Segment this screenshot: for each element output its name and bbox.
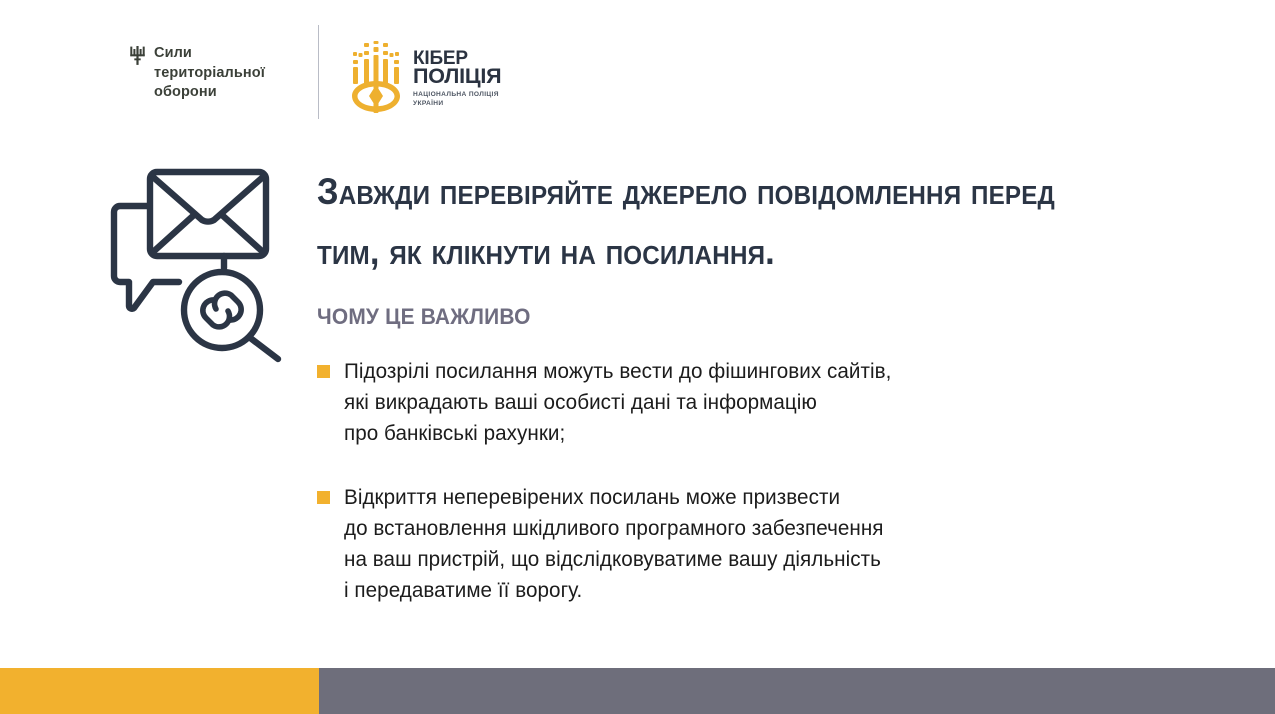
header-divider xyxy=(318,25,319,119)
logo-territorial-defence-forces: Сили територіальної оборони xyxy=(130,44,265,103)
headline-rest: авжди перевіряйте джерело повідомлення п… xyxy=(317,171,1055,272)
page-title: Завжди перевіряйте джерело повідомлення … xyxy=(317,162,1117,282)
envelope-chat-link-magnifier-icon xyxy=(98,158,294,366)
list-item-text: Підозрілі посилання можуть вести до фіши… xyxy=(344,356,891,449)
bullet-list: Підозрілі посилання можуть вести до фіши… xyxy=(317,356,1177,606)
headline-first-letter: З xyxy=(317,171,339,212)
tryzub-icon xyxy=(130,46,145,65)
cyber-police-subtitle: НАЦІОНАЛЬНА ПОЛІЦІЯ УКРАЇНИ xyxy=(413,91,501,108)
subheading: ЧОМУ ЦЕ ВАЖЛИВО xyxy=(317,304,1134,330)
footer-accent-yellow xyxy=(0,668,319,714)
list-item: Відкриття неперевірених посилань може пр… xyxy=(317,482,1177,606)
square-bullet-icon xyxy=(317,491,330,504)
square-bullet-icon xyxy=(317,365,330,378)
footer-bar xyxy=(0,668,1275,714)
header: Сили територіальної оборони xyxy=(0,0,1275,130)
logo-cyber-police: КІБЕР ПОЛІЦІЯ НАЦІОНАЛЬНА ПОЛІЦІЯ УКРАЇН… xyxy=(347,41,501,113)
list-item-text: Відкриття неперевірених посилань може пр… xyxy=(344,482,884,606)
slide-root: Сили територіальної оборони xyxy=(0,0,1275,714)
content-column: Завжди перевіряйте джерело повідомлення … xyxy=(317,162,1177,606)
logo-territorial-defence-label: Сили територіальної оборони xyxy=(154,44,265,103)
list-item: Підозрілі посилання можуть вести до фіши… xyxy=(317,356,1177,449)
cyber-police-line2: ПОЛІЦІЯ xyxy=(413,67,501,87)
cyber-police-wordmark: КІБЕР ПОЛІЦІЯ НАЦІОНАЛЬНА ПОЛІЦІЯ УКРАЇН… xyxy=(413,41,501,108)
cyber-trident-icon xyxy=(347,41,405,113)
footer-accent-grey xyxy=(319,668,1275,714)
